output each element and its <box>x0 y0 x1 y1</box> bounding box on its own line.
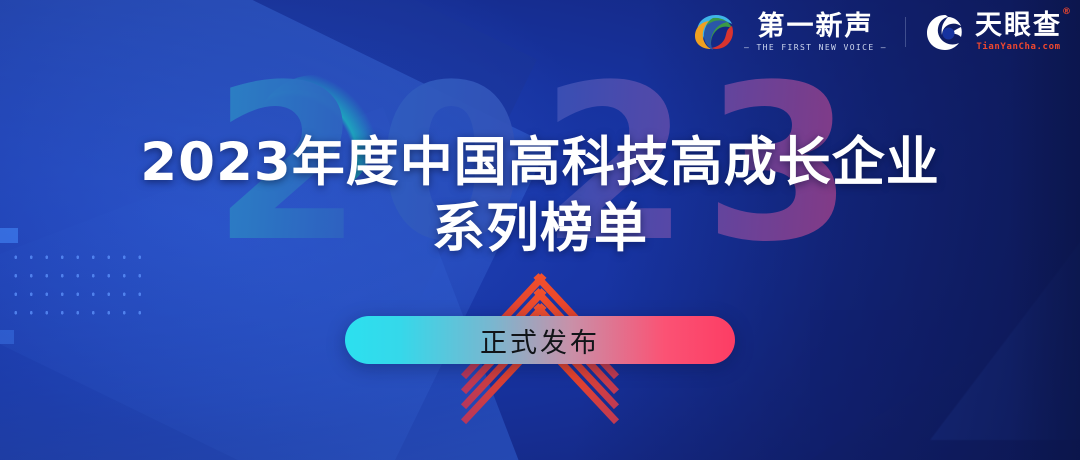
swirl-logo-icon <box>691 12 735 52</box>
logo-tianyancha-name: 天眼查 <box>975 12 1062 39</box>
logo-tianyancha[interactable]: 天眼查 ® TianYanCha.com <box>924 12 1062 52</box>
logo-divider <box>905 17 906 47</box>
logo-first-new-voice[interactable]: 第一新声 — THE FIRST NEW VOICE — <box>691 12 887 52</box>
release-status-badge[interactable]: 正式发布 <box>345 316 735 364</box>
background-square-accent-bottom <box>0 330 14 344</box>
logo-first-new-voice-name: 第一新声 <box>758 13 874 40</box>
eye-lens-logo-icon <box>924 12 966 52</box>
logo-tianyancha-domain: TianYanCha.com <box>976 43 1060 52</box>
registered-trademark-icon: ® <box>1062 8 1071 17</box>
title-line-1: 2023年度中国高科技高成长企业 <box>0 130 1080 196</box>
title-line-2: 系列榜单 <box>0 196 1080 262</box>
page-title: 2023年度中国高科技高成长企业 系列榜单 <box>0 130 1080 261</box>
logo-bar: 第一新声 — THE FIRST NEW VOICE — 天眼查 ® TianY… <box>691 12 1062 52</box>
promo-banner: 2023 2023年度中国高科技高成长企业 系列榜单 正式发布 第一新声 — <box>0 0 1080 460</box>
release-status-label: 正式发布 <box>480 321 600 360</box>
logo-first-new-voice-tagline: — THE FIRST NEW VOICE — <box>744 44 887 52</box>
